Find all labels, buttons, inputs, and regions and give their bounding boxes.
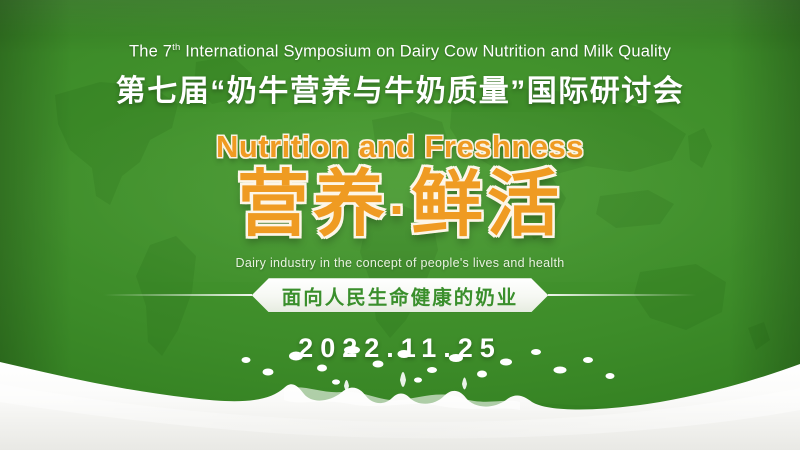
ribbon-line-left <box>104 294 252 296</box>
slogan-separator-dot: · <box>389 179 411 239</box>
header-english-rest: International Symposium on Dairy Cow Nut… <box>180 43 671 61</box>
slogan-chinese-right: 鲜活 <box>411 165 563 245</box>
conference-poster: The 7th International Symposium on Dairy… <box>0 0 800 450</box>
tagline-ribbon: 面向人民生命健康的奶业 <box>252 278 549 312</box>
slogan-english: Nutrition and Freshness <box>216 129 584 165</box>
event-date: 2022.11.25 <box>298 333 502 364</box>
header-chinese-title: 第七届“奶牛营养与牛奶质量”国际研讨会 <box>116 66 685 110</box>
header-english-title: The 7th International Symposium on Dairy… <box>129 42 671 62</box>
tagline-chinese: 面向人民生命健康的奶业 <box>282 281 519 310</box>
slogan-chinese: 营养·鲜活 <box>237 167 563 245</box>
tagline-english: Dairy industry in the concept of people'… <box>236 256 565 270</box>
header-english-prefix: The 7 <box>129 43 172 61</box>
slogan-chinese-left: 营养 <box>237 165 389 245</box>
ribbon-line-right <box>548 294 696 296</box>
tagline-ribbon-row: 面向人民生命健康的奶业 <box>0 278 800 312</box>
